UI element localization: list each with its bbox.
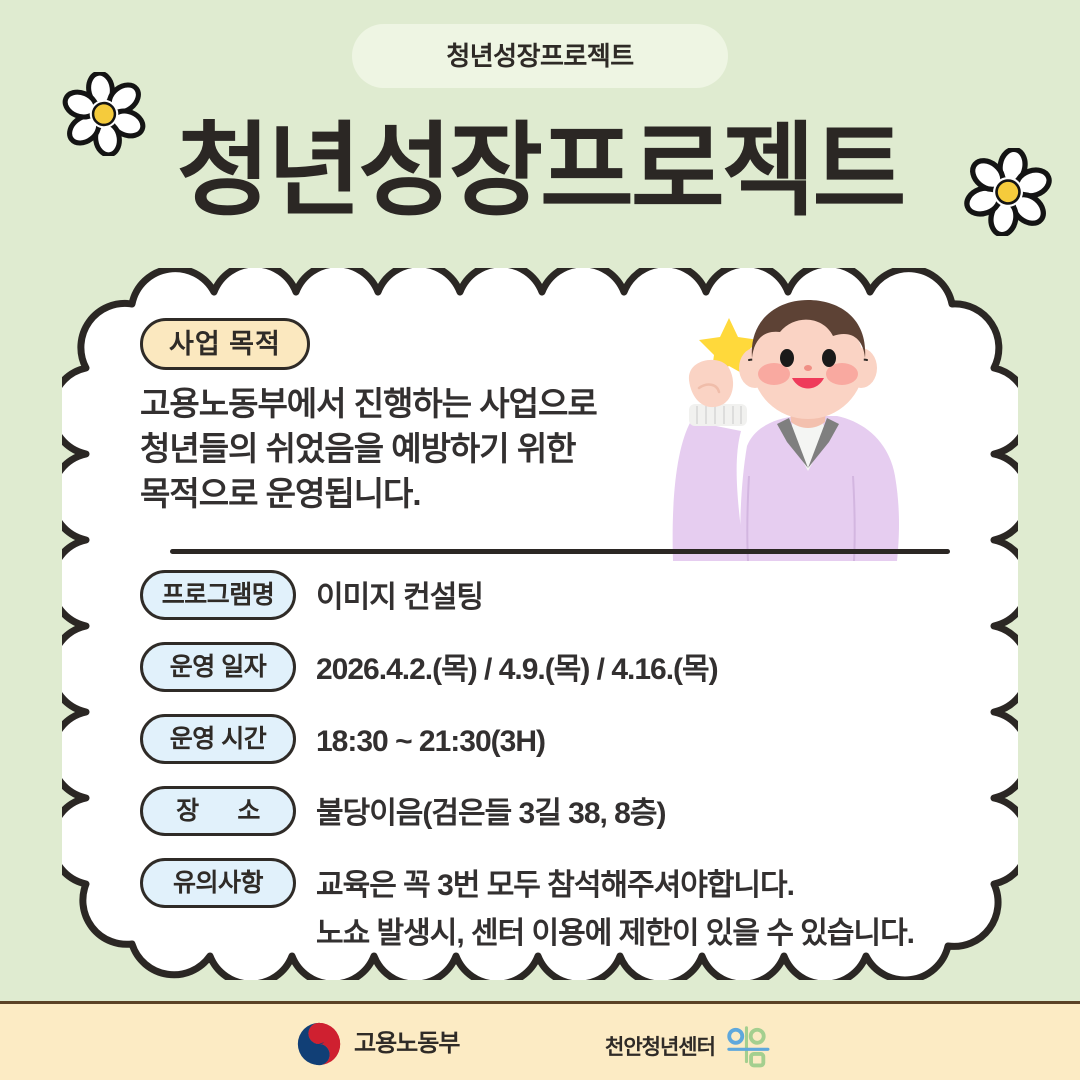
info-row-program-name: 프로그램명 이미지 컨설팅: [140, 568, 1000, 620]
header-pill-label: 청년성장프로젝트: [446, 43, 633, 69]
info-row-dates: 운영 일자 2026.4.2.(목) / 4.9.(목) / 4.16.(목): [140, 640, 1000, 692]
korea-government-taegeuk-icon: [296, 1021, 342, 1067]
info-label-pill: 운영 일자: [140, 642, 296, 692]
info-label-text: 운영 일자: [170, 655, 266, 680]
info-value-line: 이미지 컨설팅: [316, 576, 1000, 620]
info-label-pill: 유의사항: [140, 858, 296, 908]
purpose-badge: 사업 목적: [140, 318, 310, 370]
footer-moel-label: 고용노동부: [354, 1032, 459, 1056]
info-value-line: 18:30 ~ 21:30(3H): [316, 720, 1000, 764]
info-label-pill: 운영 시간: [140, 714, 296, 764]
info-value-line: 2026.4.2.(목) / 4.9.(목) / 4.16.(목): [316, 648, 1000, 692]
header-pill: 청년성장프로젝트: [352, 24, 728, 88]
info-label-text: 유의사항: [173, 871, 263, 896]
footer-bar: 고용노동부 천안청년센터: [0, 1001, 1080, 1080]
footer-center-label: 천안청년센터: [605, 1037, 715, 1058]
purpose-line: 청년들의 쉬었음을 예방하기 위한: [140, 427, 700, 472]
info-label-pill: 장 소: [140, 786, 296, 836]
footer-logo-center: 천안청년센터: [605, 1026, 771, 1068]
info-row-time: 운영 시간 18:30 ~ 21:30(3H): [140, 712, 1000, 764]
info-value-line: 교육은 꼭 3번 모두 참석해주셔야합니다.: [316, 864, 1000, 908]
info-value: 이미지 컨설팅: [296, 568, 1000, 620]
info-label-text: 프로그램명: [162, 583, 275, 608]
purpose-description: 고용노동부에서 진행하는 사업으로 청년들의 쉬었음을 예방하기 위한 목적으로…: [140, 382, 700, 517]
page-title: 청년성장프로젝트: [0, 110, 1080, 232]
info-row-notice: 유의사항 교육은 꼭 3번 모두 참석해주셔야합니다. 노쇼 발생시, 센터 이…: [140, 856, 1000, 955]
info-value: 18:30 ~ 21:30(3H): [296, 712, 1000, 764]
purpose-badge-label: 사업 목적: [169, 331, 281, 358]
purpose-line: 목적으로 운영됩니다.: [140, 472, 700, 517]
student-character-illustration: [637, 296, 957, 561]
info-row-location: 장 소 불당이음(검은들 3길 38, 8층): [140, 784, 1000, 836]
info-card: 사업 목적 고용노동부에서 진행하는 사업으로 청년들의 쉬었음을 예방하기 위…: [62, 268, 1018, 980]
info-rows: 프로그램명 이미지 컨설팅 운영 일자 2026.4.2.(목) / 4.9.(…: [140, 568, 1000, 955]
purpose-line: 고용노동부에서 진행하는 사업으로: [140, 382, 700, 427]
info-label-text: 운영 시간: [170, 727, 266, 752]
poster-root: 청년성장프로젝트 청년성장프로젝트: [0, 0, 1080, 1080]
section-divider: [170, 549, 950, 554]
info-value-line: 노쇼 발생시, 센터 이용에 제한이 있을 수 있습니다.: [316, 912, 1000, 956]
daisy-flower-icon: [62, 72, 146, 156]
info-value-line: 불당이음(검은들 3길 38, 8층): [316, 792, 1000, 836]
footer-logo-moel: 고용노동부: [296, 1021, 459, 1067]
info-label-text: 장 소: [176, 799, 260, 824]
daisy-flower-icon: [964, 148, 1052, 236]
ieum-logo-icon: [725, 1026, 771, 1068]
info-label-pill: 프로그램명: [140, 570, 296, 620]
info-value: 2026.4.2.(목) / 4.9.(목) / 4.16.(목): [296, 640, 1000, 692]
info-value: 불당이음(검은들 3길 38, 8층): [296, 784, 1000, 836]
info-value: 교육은 꼭 3번 모두 참석해주셔야합니다. 노쇼 발생시, 센터 이용에 제한…: [296, 856, 1000, 955]
